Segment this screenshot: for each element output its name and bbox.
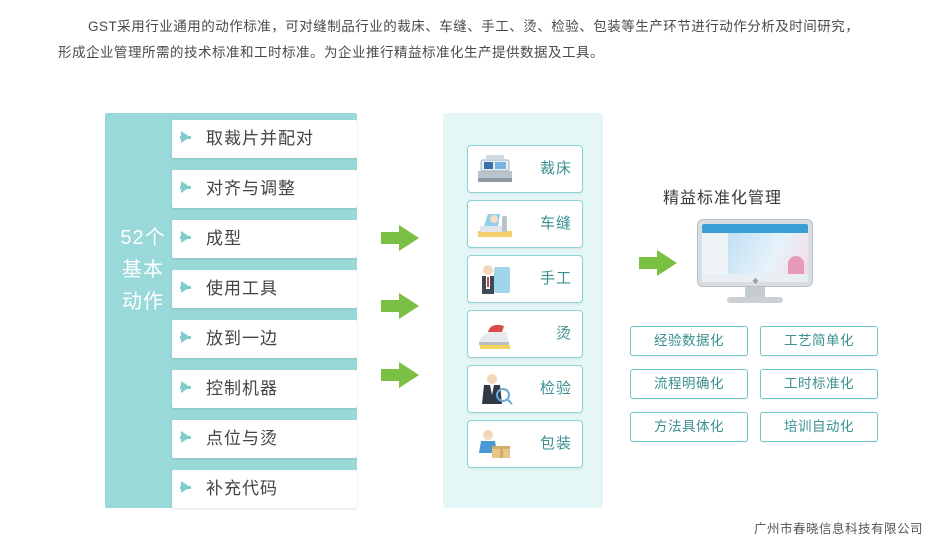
process-label: 包装 — [540, 421, 572, 467]
step-item[interactable]: 对齐与调整 — [172, 170, 357, 208]
process-label: 烫 — [556, 311, 572, 357]
benefit-tag[interactable]: 工艺简单化 — [760, 326, 878, 356]
process-card[interactable]: 检验 — [467, 365, 583, 413]
benefit-tag[interactable]: 工时标准化 — [760, 369, 878, 399]
company-footer: 广州市春晓信息科技有限公司 — [754, 518, 923, 537]
step-label: 控制机器 — [206, 370, 278, 408]
lean-management-title: 精益标准化管理 — [663, 184, 782, 208]
process-label: 裁床 — [540, 146, 572, 192]
arrow-right-icon — [181, 181, 190, 193]
arrow-right-icon — [181, 231, 190, 243]
step-item[interactable]: 补充代码 — [172, 470, 357, 508]
process-card[interactable]: 裁床 — [467, 145, 583, 193]
computer-monitor-icon: ◆ — [697, 219, 813, 303]
apple-logo-icon: ◆ — [752, 277, 759, 284]
arrow-right-icon — [181, 431, 190, 443]
arrow-right-icon — [181, 381, 190, 393]
green-arrow-icon — [381, 362, 419, 388]
hand-work-icon — [474, 261, 516, 297]
step-label: 点位与烫 — [206, 420, 278, 458]
green-arrow-icon — [639, 250, 677, 276]
intro-paragraph: GST采用行业通用的动作标准，可对缝制品行业的裁床、车缝、手工、烫、检验、包装等… — [58, 14, 888, 66]
step-label: 放到一边 — [206, 320, 278, 358]
step-label: 取裁片并配对 — [206, 120, 314, 158]
process-card[interactable]: 包装 — [467, 420, 583, 468]
process-label: 手工 — [540, 256, 572, 302]
benefit-tag[interactable]: 流程明确化 — [630, 369, 748, 399]
step-item[interactable]: 放到一边 — [172, 320, 357, 358]
process-card[interactable]: 手工 — [467, 255, 583, 303]
ironing-icon — [474, 316, 516, 352]
arrow-right-icon — [181, 131, 190, 143]
arrow-right-icon — [181, 331, 190, 343]
step-label: 对齐与调整 — [206, 170, 296, 208]
step-item[interactable]: 点位与烫 — [172, 420, 357, 458]
process-label: 车缝 — [540, 201, 572, 247]
process-label: 检验 — [540, 366, 572, 412]
inspection-icon — [474, 371, 516, 407]
step-label: 使用工具 — [206, 270, 278, 308]
arrow-right-icon — [181, 481, 190, 493]
process-card[interactable]: 车缝 — [467, 200, 583, 248]
step-item[interactable]: 控制机器 — [172, 370, 357, 408]
green-arrow-icon — [381, 225, 419, 251]
benefit-tag[interactable]: 培训自动化 — [760, 412, 878, 442]
step-item[interactable]: 成型 — [172, 220, 357, 258]
green-arrow-icon — [381, 293, 419, 319]
intro-line-2: 形成企业管理所需的技术标准和工时标准。为企业推行精益标准化生产提供数据及工具。 — [58, 40, 888, 66]
step-label: 补充代码 — [206, 470, 278, 508]
benefit-tag[interactable]: 方法具体化 — [630, 412, 748, 442]
arrow-right-icon — [181, 281, 190, 293]
process-card[interactable]: 烫 — [467, 310, 583, 358]
step-label: 成型 — [206, 220, 242, 258]
step-item[interactable]: 取裁片并配对 — [172, 120, 357, 158]
intro-line-1: GST采用行业通用的动作标准，可对缝制品行业的裁床、车缝、手工、烫、检验、包装等… — [58, 14, 888, 40]
benefit-tag[interactable]: 经验数据化 — [630, 326, 748, 356]
sewing-machine-icon — [474, 206, 516, 242]
basic-actions-label: 52个基本动作 — [120, 222, 166, 318]
step-item[interactable]: 使用工具 — [172, 270, 357, 308]
packing-icon — [474, 426, 516, 462]
cutting-machine-icon — [474, 151, 516, 187]
